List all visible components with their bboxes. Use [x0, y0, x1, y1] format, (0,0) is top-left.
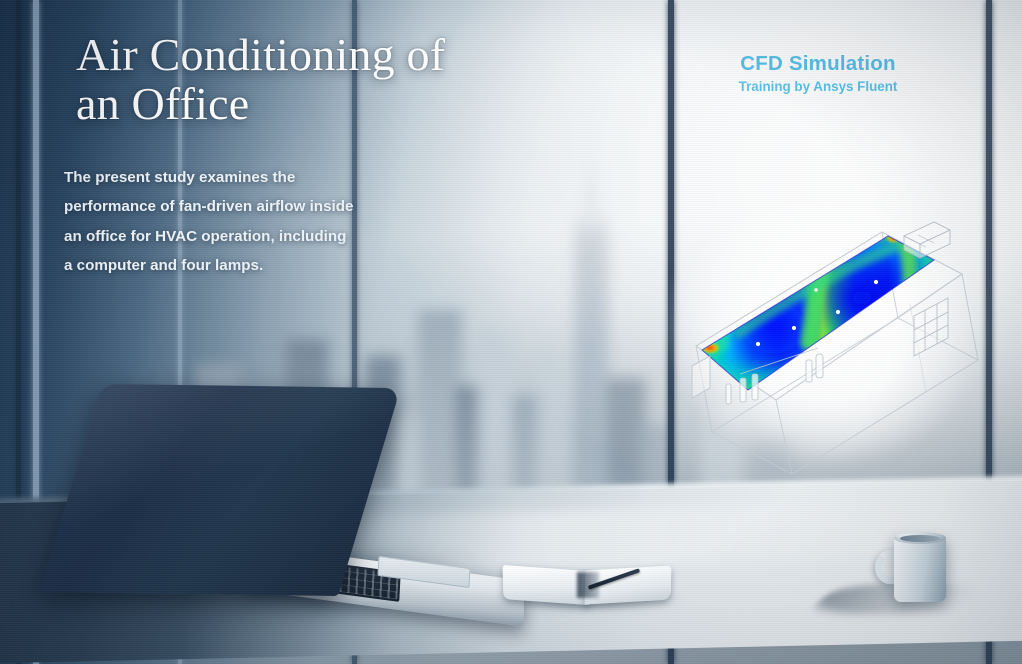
brand-subtitle: Training by Ansys Fluent [688, 79, 948, 94]
mug-interior [900, 535, 940, 542]
slide-canvas: Air Conditioning of an Office The presen… [0, 0, 1022, 664]
page-title: Air Conditioning of an Office [76, 30, 496, 128]
open-notebook [503, 556, 673, 614]
return-grille [914, 298, 948, 356]
mug-body [894, 536, 946, 602]
title-line-1: Air Conditioning of [76, 30, 496, 79]
brand-block: CFD Simulation Training by Ansys Fluent [688, 52, 948, 94]
supply-diffuser [904, 222, 950, 258]
cfd-geometry-svg [666, 178, 986, 478]
coffee-mug [884, 528, 946, 604]
cfd-simulation-render [666, 178, 986, 478]
body-paragraph: The present study examines the performan… [64, 163, 354, 280]
title-line-2: an Office [76, 79, 496, 128]
brand-title: CFD Simulation [688, 52, 948, 76]
laptop-computer [48, 386, 518, 616]
laptop-lid [39, 384, 400, 596]
